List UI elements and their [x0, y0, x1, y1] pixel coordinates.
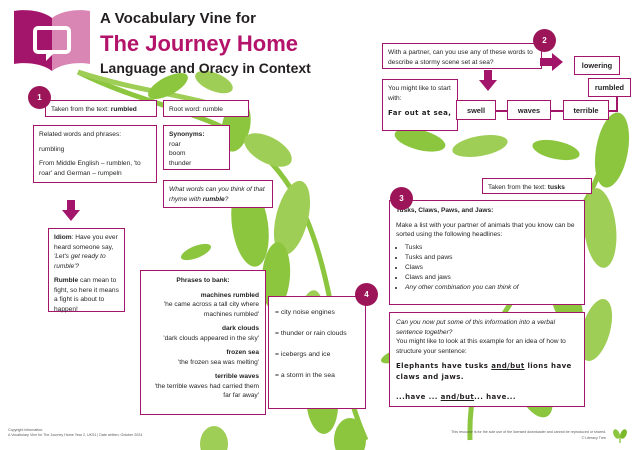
box-idiom: Idiom: Have you ever heard someone say, …	[48, 228, 125, 312]
starter-example: Far out at sea,	[388, 108, 452, 119]
page-title: The Journey Home	[100, 30, 311, 58]
box-partner-prompt: With a partner, can you use any of these…	[382, 43, 542, 69]
verbal-prompt: Can you now put some of this information…	[396, 318, 578, 337]
chain-word-waves: waves	[507, 100, 551, 120]
taken-from-text-label: Taken from the text:	[51, 106, 111, 113]
literacy-tree-leaf-icon	[612, 428, 628, 444]
taken-from-text-word-2: tusks	[548, 184, 565, 191]
page-title-block: A Vocabulary Vine for The Journey Home L…	[100, 10, 311, 77]
arrow-right-icon	[540, 52, 564, 72]
box-sentence-starter: You might like to start with: Far out at…	[382, 79, 458, 131]
footer-right: This resource is for the sole use of the…	[451, 430, 606, 442]
sorting-bullet: Claws and jaws	[405, 273, 578, 283]
chain-word-label: rumbled	[595, 83, 624, 92]
box-taken-from-text-tusks: Taken from the text: tusks	[482, 178, 592, 194]
synonym-item: roar	[169, 140, 224, 150]
phrase-quote: 'he came across a tall city where machin…	[147, 300, 259, 319]
box-word-meanings: city noise engines thunder or rain cloud…	[268, 296, 366, 409]
box-taken-from-text-rumbled: Taken from the text: rumbled	[45, 100, 157, 117]
phrase-term: terrible waves	[215, 373, 259, 380]
taken-from-text-word: rumbled	[111, 106, 137, 113]
synonym-item: boom	[169, 149, 224, 159]
example-conjunction: and/but	[491, 362, 524, 370]
rhyme-prompt-word: rumble	[203, 196, 225, 203]
word-meaning-item: thunder or rain clouds	[275, 329, 359, 339]
word-meanings-list: city noise engines thunder or rain cloud…	[275, 308, 359, 380]
example-frame-b: ... have...	[474, 393, 516, 401]
chain-word-swell: swell	[456, 100, 496, 120]
phrase-term: machines rumbled	[201, 292, 259, 299]
synonym-item: thunder	[169, 159, 224, 169]
rumble-label: Rumble	[54, 277, 78, 284]
literacy-tree-logo	[8, 8, 96, 80]
phrase-quote: 'dark clouds appeared in the sky'	[147, 334, 259, 344]
phrase-term: dark clouds	[222, 325, 259, 332]
idiom-quote: 'Let's get ready to rumble'?	[54, 253, 106, 270]
license-notice: This resource is for the sole use of the…	[451, 430, 606, 436]
license-owner: © Literacy Tree	[451, 436, 606, 442]
verbal-prompt-2: You might like to look at this example f…	[396, 337, 578, 356]
phrase-quote: 'the terrible waves had carried them far…	[147, 382, 259, 401]
sorting-bullets: Tusks Tusks and paws Claws Claws and jaw…	[405, 243, 578, 293]
word-meaning-item: city noise engines	[275, 308, 359, 318]
box-sorting-task: Tusks, Claws, Paws, and Jaws: Make a lis…	[389, 200, 585, 305]
box-rhyme-prompt: What words can you think of that rhyme w…	[163, 180, 273, 208]
title-line-1: A Vocabulary Vine for	[100, 10, 311, 29]
sorting-bullet: Tusks	[405, 243, 578, 253]
box-verbal-sentence: Can you now put some of this information…	[389, 312, 585, 407]
chain-word-label: terrible	[573, 106, 598, 115]
arrow-down-icon	[60, 200, 82, 222]
sorting-instruction: Make a list with your partner of animals…	[396, 221, 578, 240]
worksheet-page: A Vocabulary Vine for The Journey Home L…	[0, 0, 636, 450]
chain-word-terrible: terrible	[563, 100, 609, 120]
example-frame-a: ...have ...	[396, 393, 441, 401]
example-sentence-a: Elephants have tusks	[396, 362, 491, 370]
synonyms-heading: Synonyms:	[169, 131, 205, 138]
box-related-words: Related words and phrases: rumbling From…	[33, 125, 157, 183]
rhyme-prompt-b: ?	[225, 196, 229, 203]
badge-4: 4	[355, 283, 378, 306]
chain-word-label: swell	[467, 106, 485, 115]
chain-connector	[550, 110, 564, 112]
word-meaning-item: icebergs and ice	[275, 350, 359, 360]
etymology-text: From Middle English – rumblen, 'to roar'…	[39, 159, 151, 178]
title-line-3: Language and Oracy in Context	[100, 59, 311, 77]
footer-left: Copyright information: A Vocabulary Vine…	[8, 428, 142, 439]
copyright-detail: A Vocabulary Vine for The Journey Home Y…	[8, 433, 142, 438]
box-phrases-to-bank: Phrases to bank: machines rumbled 'he ca…	[140, 270, 266, 415]
sorting-heading: Tusks, Claws, Paws, and Jaws:	[396, 207, 493, 214]
taken-from-text-label-2: Taken from the text:	[488, 184, 548, 191]
badge-3: 3	[390, 187, 413, 210]
chain-connector	[494, 110, 508, 112]
partner-prompt-text: With a partner, can you use any of these…	[388, 49, 533, 66]
box-synonyms: Synonyms: roar boom thunder	[163, 125, 230, 170]
arrow-down-icon-2	[477, 70, 499, 92]
sorting-bullet: Claws	[405, 263, 578, 273]
root-word-text: Root word: rumble	[169, 106, 223, 113]
badge-2: 2	[533, 29, 556, 52]
chain-word-label: lowering	[582, 61, 612, 70]
chain-word-label: waves	[518, 106, 540, 115]
phrases-heading: Phrases to bank:	[176, 277, 229, 284]
starter-label: You might like to start with:	[388, 84, 452, 103]
chain-word-lowering: lowering	[574, 56, 620, 75]
phrase-quote: 'the frozen sea was melting'	[147, 358, 259, 368]
badge-1: 1	[28, 86, 51, 109]
sorting-bullet: Tusks and paws	[405, 253, 578, 263]
box-root-word: Root word: rumble	[163, 100, 249, 117]
word-meaning-item: a storm in the sea	[275, 371, 359, 381]
related-word: rumbling	[39, 145, 151, 155]
chain-word-rumbled: rumbled	[588, 78, 631, 97]
idiom-label: Idiom	[54, 234, 72, 241]
related-heading: Related words and phrases:	[39, 130, 151, 140]
phrase-term: frozen sea	[226, 349, 259, 356]
sorting-bullet-italic: Any other combination you can think of	[405, 283, 578, 293]
example-frame-conjunction: and/but	[441, 393, 474, 401]
